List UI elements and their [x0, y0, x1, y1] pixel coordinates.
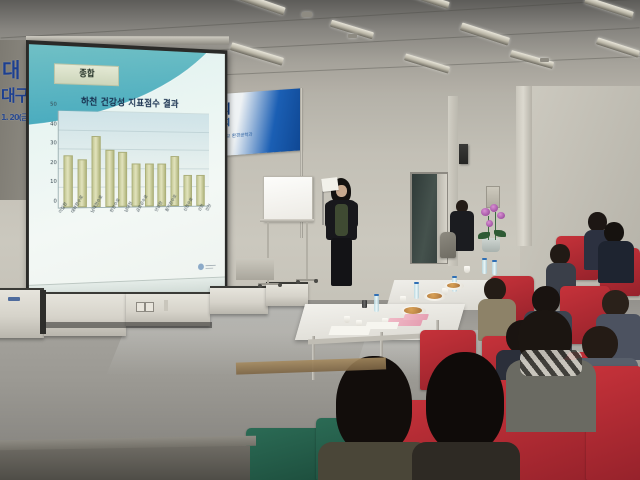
water-bottle[interactable]: [374, 296, 379, 312]
whiteboard-caster: [258, 284, 262, 288]
university-logo-watermark: [198, 263, 217, 271]
whiteboard-caster: [278, 283, 282, 287]
ceiling-vent: [540, 58, 549, 62]
presenter-inner-top: [335, 204, 348, 236]
open-doorway[interactable]: [412, 174, 437, 263]
audience-member-foreground: [318, 356, 426, 480]
y-tick-20: 20: [50, 160, 57, 166]
photo-scene: 대 대구 · 1. 20(금) 표회 회 대학교 환경공학과 종합 하천 건강성…: [0, 0, 640, 480]
cabinet-brand-logo: [8, 297, 20, 301]
floor-post: [164, 300, 168, 311]
ceiling-vent: [348, 34, 357, 38]
wall-pillar: [516, 86, 532, 246]
audience-member: [546, 244, 576, 292]
bottle-cap: [374, 294, 379, 296]
wall-mounted-speaker: [459, 144, 468, 164]
food-items: [427, 293, 442, 299]
white-document[interactable]: [365, 322, 399, 329]
projected-slide: 종합 하천 건강성 지표점수 결과 0 10 20 30 40 50 이길천대화…: [29, 44, 225, 302]
bottle-cap: [414, 282, 419, 284]
ceiling-vent: [302, 12, 312, 17]
slide-header-badge-label: 종합: [55, 64, 118, 85]
whiteboard-caster: [296, 280, 300, 284]
bar-series: [62, 111, 207, 208]
whiteboard-caster: [314, 279, 318, 283]
y-tick-10: 10: [50, 179, 57, 185]
stage-front-cabinet: [44, 292, 126, 336]
stage-front-cabinet: [0, 288, 44, 338]
stage-front-cabinet: [210, 286, 268, 314]
x-axis-labels: 이길천대화천수로남대천수로한천수로남대천금호강수로안강천팔거천수로신천수로신천진…: [58, 209, 212, 257]
presenter-leg-gap: [322, 191, 324, 225]
audience-torso: [598, 241, 634, 283]
beverage-can[interactable]: [362, 300, 367, 308]
orchid-flower: [497, 212, 505, 219]
presenter-script-papers: [321, 177, 338, 192]
presenter-arm-left: [325, 202, 333, 228]
food-items: [404, 307, 422, 314]
presenter-standing: [322, 178, 362, 290]
whiteboard-leg: [306, 222, 308, 280]
paper-cup[interactable]: [344, 316, 350, 323]
orchid-pot: [482, 238, 500, 252]
audience-member: [598, 222, 632, 276]
floor-riser-edge: [0, 446, 250, 480]
water-bottle[interactable]: [414, 284, 419, 299]
stage-front-cabinet: [266, 282, 308, 306]
outlet-panel[interactable]: [136, 302, 145, 312]
cabinet-shadow: [44, 322, 212, 328]
orchid-flower: [481, 208, 490, 216]
orchid-flower: [490, 204, 498, 212]
bottle-cap: [452, 276, 457, 278]
outlet-panel[interactable]: [145, 302, 154, 312]
slide-header-badge: 종합: [54, 63, 119, 86]
audience-head: [550, 244, 570, 265]
audience-shoulders: [412, 442, 520, 480]
audience-head: [484, 278, 506, 301]
chair-by-door[interactable]: [440, 232, 456, 258]
banner-left-line1: 대: [2, 54, 19, 83]
orchid-flower: [486, 220, 493, 227]
bar-0: [64, 155, 73, 207]
paper-cup[interactable]: [464, 266, 470, 273]
audience-head: [604, 222, 624, 243]
y-tick-50: 50: [50, 102, 57, 108]
water-bottle[interactable]: [482, 260, 487, 274]
paper-cup[interactable]: [400, 296, 406, 303]
presenter-arm-right: [350, 202, 358, 228]
bar-5: [132, 163, 141, 206]
y-tick-0: 0: [53, 199, 56, 205]
bottle-cap: [482, 258, 487, 260]
audience-head: [602, 290, 629, 317]
y-tick-40: 40: [50, 121, 57, 127]
y-tick-30: 30: [50, 141, 57, 147]
audience-scarf: [520, 350, 582, 376]
food-items: [447, 283, 460, 288]
orchid-leaf: [494, 230, 506, 237]
projection-screen: 종합 하천 건강성 지표점수 결과 0 10 20 30 40 50 이길천대화…: [26, 40, 227, 308]
audience-member-foreground: [412, 352, 516, 480]
audience-hair: [426, 352, 504, 452]
bottle-cap: [492, 260, 497, 262]
presenter-trousers: [331, 238, 352, 286]
mobile-whiteboard[interactable]: [263, 176, 313, 222]
water-bottle[interactable]: [492, 262, 497, 275]
radiator: [236, 258, 274, 280]
pink-document[interactable]: [403, 314, 429, 320]
